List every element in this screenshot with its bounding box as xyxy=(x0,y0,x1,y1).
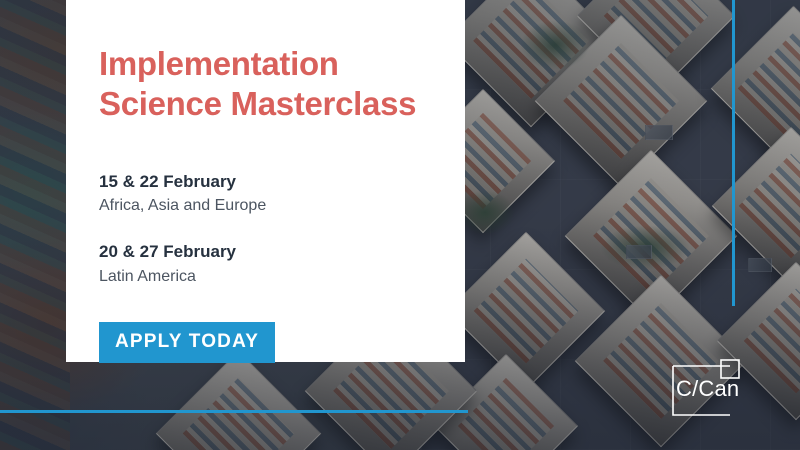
title-line-1: Implementation xyxy=(99,45,339,82)
session-list: 15 & 22 February Africa, Asia and Europe… xyxy=(99,169,431,288)
session-item: 15 & 22 February Africa, Asia and Europe xyxy=(99,169,431,218)
session-dates: 15 & 22 February xyxy=(99,169,431,195)
content-card: Implementation Science Masterclass 15 & … xyxy=(66,0,465,362)
logo-wordmark: C/Can xyxy=(676,376,739,402)
promo-banner: Implementation Science Masterclass 15 & … xyxy=(0,0,800,450)
vertical-accent-rule xyxy=(732,0,735,306)
session-dates: 20 & 27 February xyxy=(99,239,431,265)
session-regions: Latin America xyxy=(99,265,431,288)
session-item: 20 & 27 February Latin America xyxy=(99,239,431,288)
ccan-logo: C/Can xyxy=(668,358,746,420)
apply-today-button[interactable]: APPLY TODAY xyxy=(99,322,275,363)
title-line-2: Science Masterclass xyxy=(99,84,431,124)
horizontal-accent-rule xyxy=(0,410,468,413)
page-title: Implementation Science Masterclass xyxy=(99,44,431,125)
session-regions: Africa, Asia and Europe xyxy=(99,194,431,217)
